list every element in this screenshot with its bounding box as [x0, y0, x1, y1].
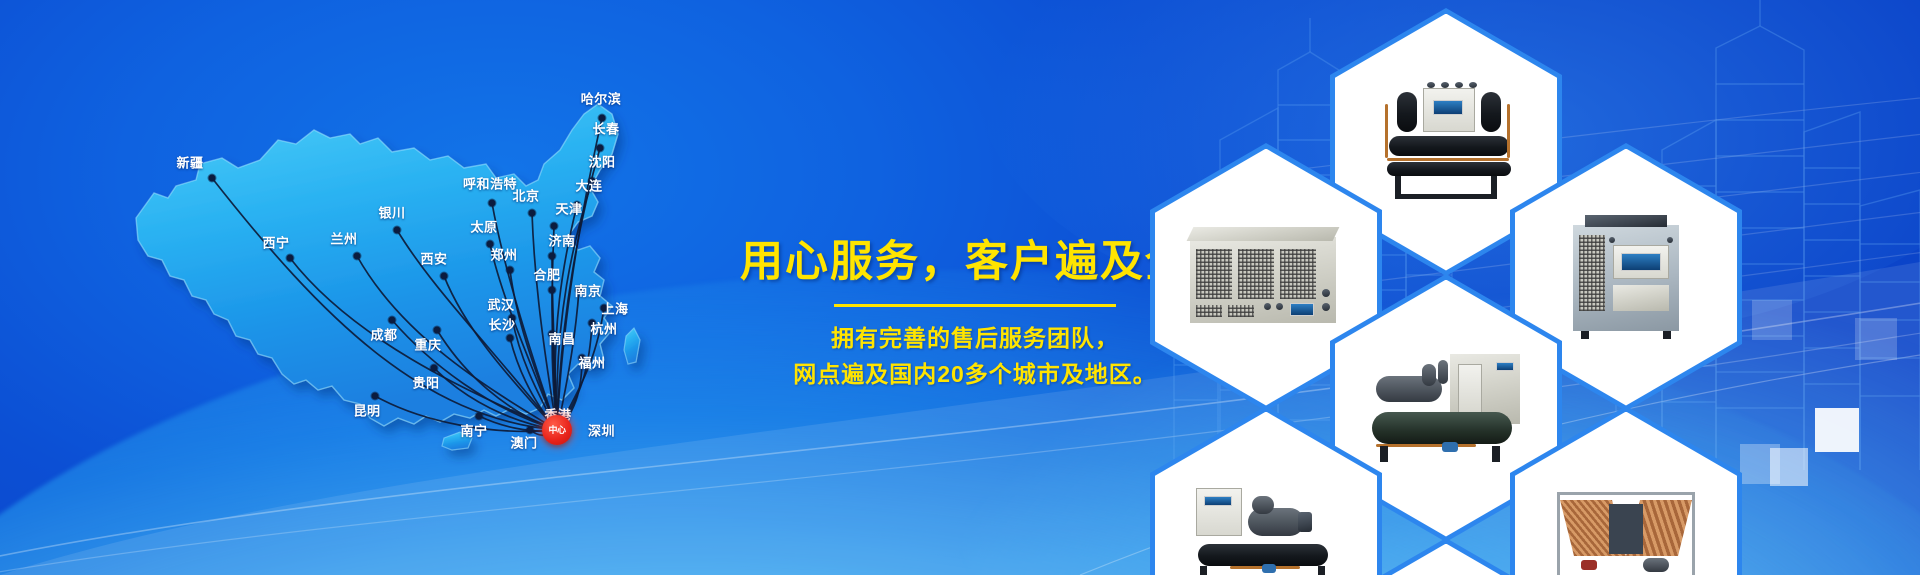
city-dot[interactable]: [487, 241, 494, 248]
machine-illustration: [1366, 346, 1526, 470]
machine-illustration: [1551, 484, 1701, 575]
city-dot[interactable]: [489, 200, 496, 207]
machine-illustration: [1186, 219, 1346, 335]
city-dot[interactable]: [589, 178, 596, 185]
city-dot[interactable]: [441, 273, 448, 280]
city-dot[interactable]: [549, 253, 556, 260]
city-dot[interactable]: [549, 331, 556, 338]
city-dot[interactable]: [394, 227, 401, 234]
machine-illustration: [1371, 82, 1521, 202]
city-dot[interactable]: [509, 315, 516, 322]
product-hexagon-collage: [1130, 0, 1920, 575]
hub-marker-shenzhen[interactable]: 中心: [542, 415, 572, 445]
map-graphic: [92, 18, 792, 448]
city-dot[interactable]: [551, 223, 558, 230]
hub-marker-label: 中心: [548, 426, 565, 435]
city-dot[interactable]: [389, 317, 396, 324]
city-dot[interactable]: [574, 202, 581, 209]
city-dot[interactable]: [287, 255, 294, 262]
city-dot[interactable]: [476, 413, 483, 420]
china-distribution-map: 新疆哈尔滨长春沈阳大连呼和浩特北京天津银川太原济南西宁兰州西安郑州合肥南京上海武…: [92, 18, 792, 448]
city-dot[interactable]: [507, 267, 514, 274]
city-dot[interactable]: [434, 327, 441, 334]
city-dot[interactable]: [209, 175, 216, 182]
city-dot[interactable]: [529, 210, 536, 217]
title-divider: [834, 304, 1116, 307]
city-dot[interactable]: [527, 427, 534, 434]
marketing-banner: 新疆哈尔滨长春沈阳大连呼和浩特北京天津银川太原济南西宁兰州西安郑州合肥南京上海武…: [0, 0, 1920, 575]
city-dot[interactable]: [579, 355, 586, 362]
city-dot[interactable]: [601, 305, 608, 312]
city-dot[interactable]: [549, 287, 556, 294]
machine-illustration: [1567, 211, 1685, 343]
city-dot[interactable]: [354, 253, 361, 260]
city-dot[interactable]: [431, 365, 438, 372]
city-dot[interactable]: [589, 320, 596, 327]
city-dot[interactable]: [372, 393, 379, 400]
city-dot[interactable]: [597, 145, 604, 152]
machine-illustration: [1190, 484, 1342, 575]
city-dot[interactable]: [599, 115, 606, 122]
city-dot[interactable]: [507, 335, 514, 342]
city-dot[interactable]: [576, 287, 583, 294]
